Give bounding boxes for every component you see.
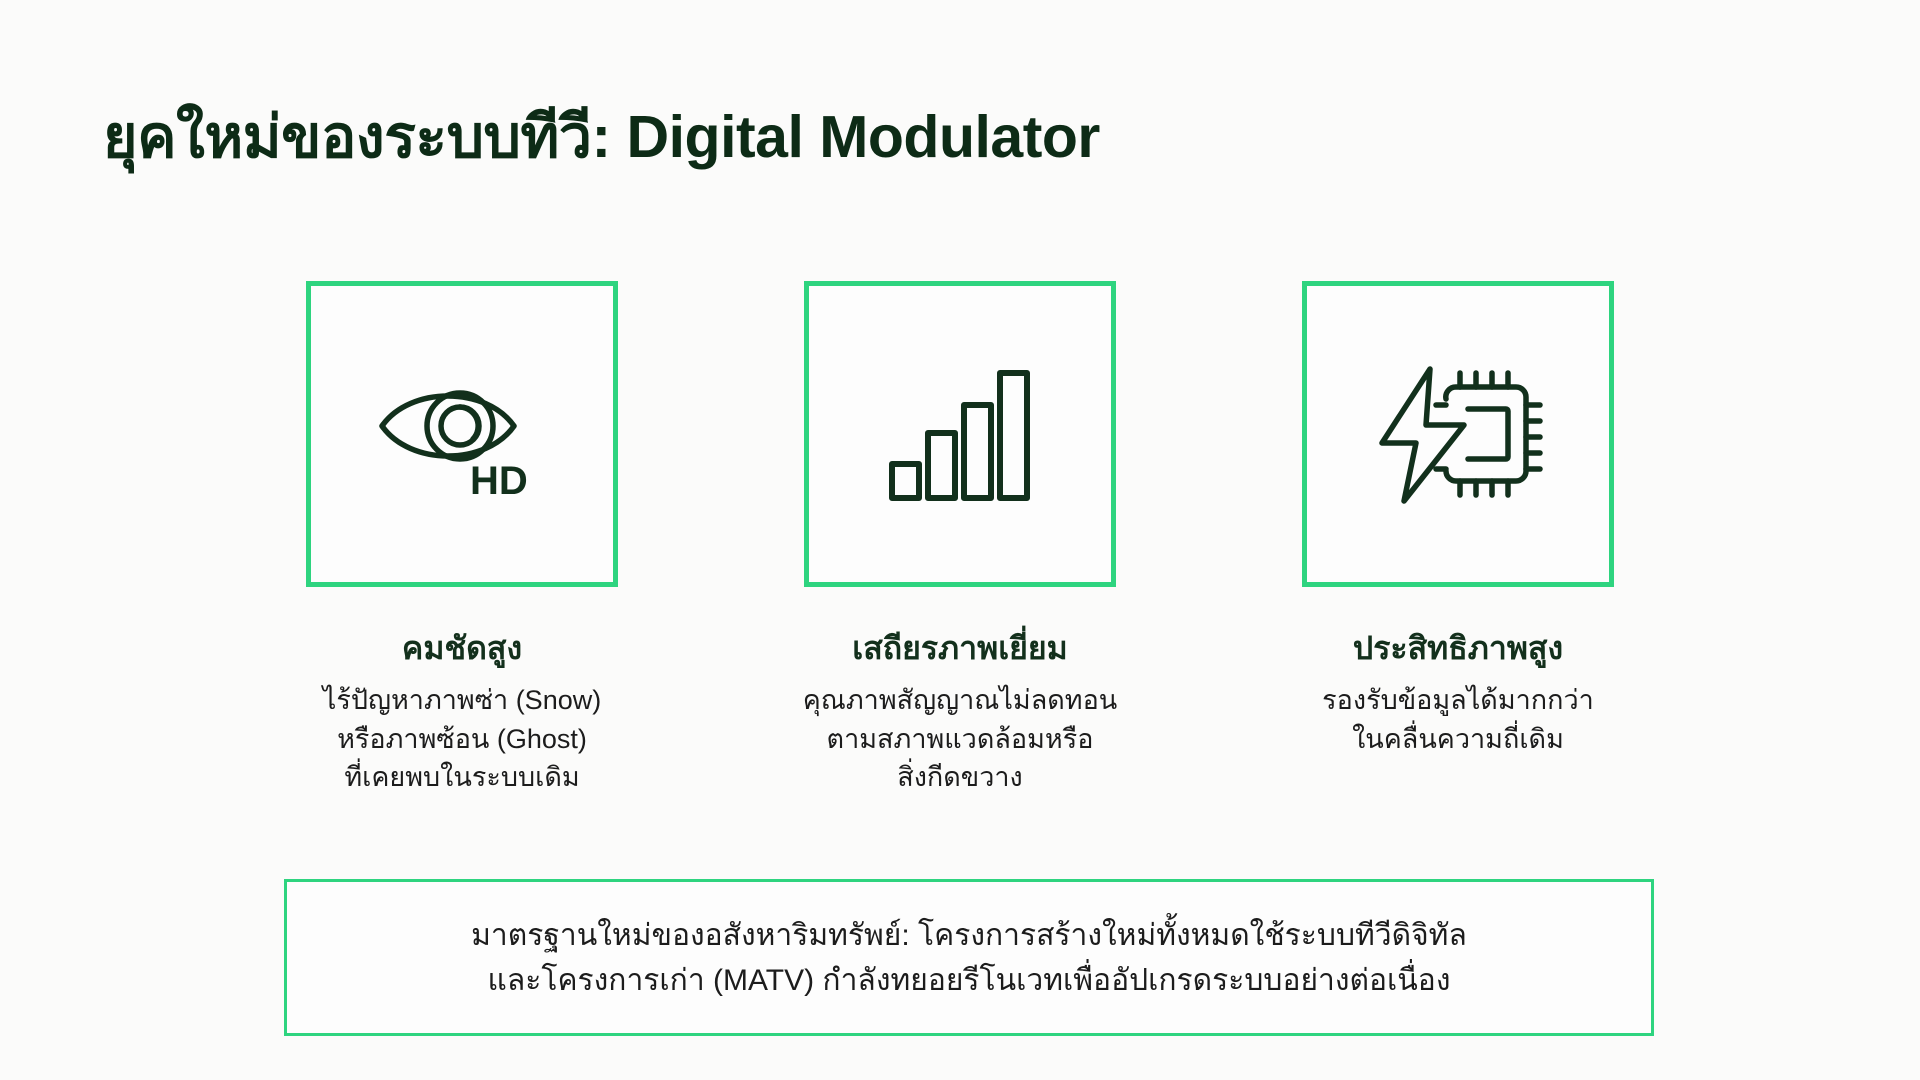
card-body-line: คุณภาพสัญญาณไม่ลดทอน xyxy=(780,681,1140,719)
lightning-chip-icon xyxy=(1368,359,1548,509)
icon-frame-hd: HD xyxy=(306,281,618,587)
card-title: คมชัดสูง xyxy=(402,629,522,667)
card-title: เสถียรภาพเยี่ยม xyxy=(852,629,1067,667)
svg-text:HD: HD xyxy=(470,459,528,503)
card-body-line: รองรับข้อมูลได้มากกว่า xyxy=(1278,681,1638,719)
icon-frame-stability xyxy=(804,281,1116,587)
feature-card-row: HD คมชัดสูง ไร้ปัญหาภาพซ่า (Snow) หรือภา… xyxy=(0,281,1920,796)
icon-frame-efficiency xyxy=(1302,281,1614,587)
card-body-line: ไร้ปัญหาภาพซ่า (Snow) xyxy=(282,681,642,719)
banner-line: มาตรฐานใหม่ของอสังหาริมทรัพย์: โครงการสร… xyxy=(471,913,1467,958)
signal-bars-icon xyxy=(887,364,1033,504)
card-body-line: ที่เคยพบในระบบเดิม xyxy=(282,758,642,796)
card-body-line: ในคลื่นความถี่เดิม xyxy=(1278,720,1638,758)
card-body: ไร้ปัญหาภาพซ่า (Snow) หรือภาพซ้อน (Ghost… xyxy=(282,681,642,796)
summary-banner: มาตรฐานใหม่ของอสังหาริมทรัพย์: โครงการสร… xyxy=(284,879,1654,1036)
banner-line: และโครงการเก่า (MATV) กำลังทยอยรีโนเวทเพ… xyxy=(488,958,1451,1003)
card-body-line: ตามสภาพแวดล้อมหรือ xyxy=(780,720,1140,758)
card-body: รองรับข้อมูลได้มากกว่า ในคลื่นความถี่เดิ… xyxy=(1278,681,1638,758)
feature-card-efficiency: ประสิทธิภาพสูง รองรับข้อมูลได้มากกว่า ใน… xyxy=(1302,281,1614,758)
feature-card-stability: เสถียรภาพเยี่ยม คุณภาพสัญญาณไม่ลดทอน ตาม… xyxy=(804,281,1116,796)
card-title: ประสิทธิภาพสูง xyxy=(1353,629,1563,667)
eye-hd-icon: HD xyxy=(374,364,550,504)
card-body: คุณภาพสัญญาณไม่ลดทอน ตามสภาพแวดล้อมหรือ … xyxy=(780,681,1140,796)
page-title: ยุคใหม่ของระบบทีวี: Digital Modulator xyxy=(103,104,1100,170)
card-body-line: สิ่งกีดขวาง xyxy=(780,758,1140,796)
card-body-line: หรือภาพซ้อน (Ghost) xyxy=(282,720,642,758)
slide-root: ยุคใหม่ของระบบทีวี: Digital Modulator HD… xyxy=(0,0,1920,1080)
feature-card-hd: HD คมชัดสูง ไร้ปัญหาภาพซ่า (Snow) หรือภา… xyxy=(306,281,618,796)
